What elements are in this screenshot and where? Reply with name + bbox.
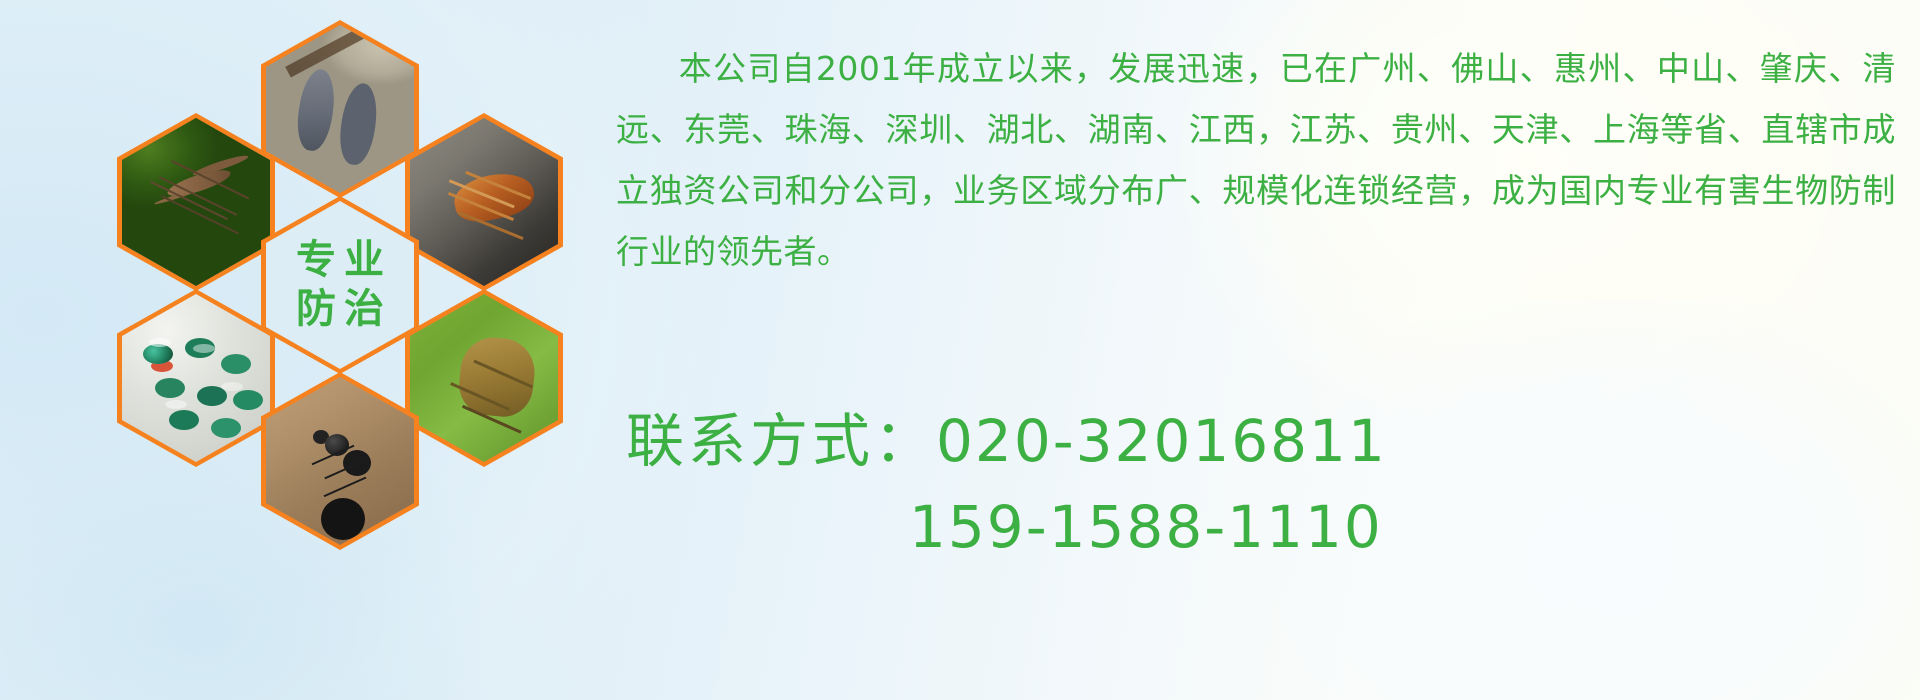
stinkbug-hexagon: [405, 289, 563, 467]
contact-line-mobile: 159-1588-1110: [626, 484, 1906, 570]
rodents-hexagon: [261, 20, 419, 198]
flies-hexagon: [117, 289, 275, 467]
banner-content: 本公司自2001年成立以来，发展迅速，已在广州、佛山、惠州、中山、肇庆、清远、东…: [616, 0, 1920, 700]
ant-hexagon-image: [266, 377, 414, 545]
stinkbug-hexagon-image: [410, 294, 558, 462]
slogan-hexagon-body: 专业 防治: [266, 201, 414, 369]
pest-control-banner: 专业 防治 本公司自2001年成立以来，发展迅速，已在广州、佛山、惠州、中山、肇…: [0, 0, 1920, 700]
company-intro-text: 本公司自2001年成立以来，发展迅速，已在广州、佛山、惠州、中山、肇庆、清远、东…: [616, 49, 1896, 271]
stinkbug-pest-photo: [410, 294, 558, 462]
contact-phone-landline[interactable]: 020-32016811: [936, 407, 1387, 475]
ant-pest-photo: [266, 377, 414, 545]
rodents-hexagon-image: [266, 25, 414, 193]
ant-hexagon: [261, 372, 419, 550]
cockroach-hexagon: [405, 113, 563, 291]
mosquito-pest-photo: [122, 118, 270, 286]
cockroach-hexagon-image: [410, 118, 558, 286]
cockroach-pest-photo: [410, 118, 558, 286]
flies-hexagon-image: [122, 294, 270, 462]
rodent-pest-photo: [266, 25, 414, 193]
contact-block: 联系方式：020-32016811 159-1588-1110: [626, 398, 1906, 570]
slogan-line-1: 专业: [288, 239, 392, 282]
contact-phone-mobile[interactable]: 159-1588-1110: [909, 493, 1383, 561]
hexagon-cluster: 专业 防治: [105, 10, 575, 555]
flies-pest-photo: [122, 294, 270, 462]
mosquito-hexagon: [117, 113, 275, 291]
mosquito-hexagon-image: [122, 118, 270, 286]
slogan-hexagon: 专业 防治: [261, 196, 419, 374]
slogan-line-2: 防治: [288, 288, 392, 331]
contact-line-landline: 联系方式：020-32016811: [626, 398, 1906, 484]
company-intro-paragraph: 本公司自2001年成立以来，发展迅速，已在广州、佛山、惠州、中山、肇庆、清远、东…: [616, 38, 1896, 282]
contact-label: 联系方式：: [626, 407, 936, 475]
